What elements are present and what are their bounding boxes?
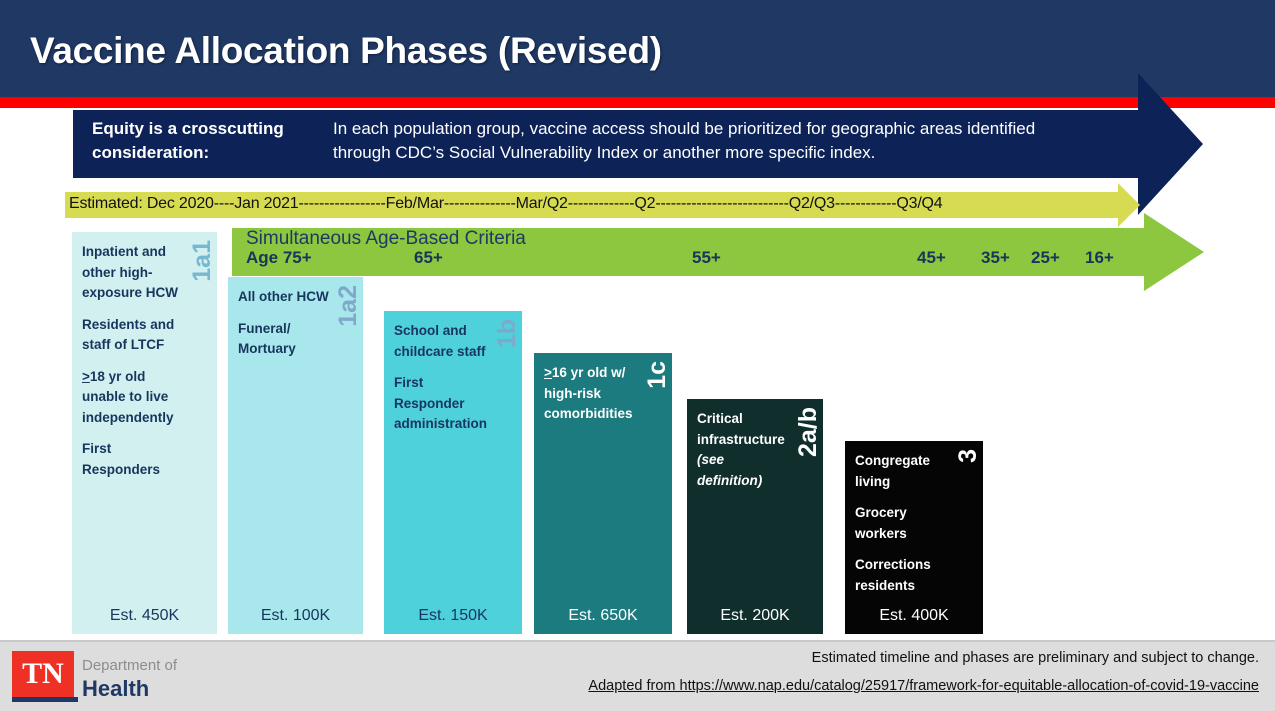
phase-code-label: 1a1 [190,240,215,282]
phase-line-gap [238,308,329,319]
phase-line-gap [82,304,183,315]
phase-line: Funeral/ Mortuary [238,319,329,360]
phase-line-gap [855,492,949,503]
timeline-arrow-head-icon [1118,183,1140,227]
footer-disclaimer: Estimated timeline and phases are prelim… [0,650,1259,666]
red-accent-stripe [0,97,1275,108]
phase-column-body: >16 yr old w/ high-risk comorbidities [544,363,638,425]
age-tick-35-: 35+ [981,248,1010,268]
page-title: Vaccine Allocation Phases (Revised) [30,30,662,72]
greater-equal-symbol: > [544,365,552,380]
phase-line: >16 yr old w/ high-risk comorbidities [544,363,638,425]
phase-estimate-label: Est. 650K [534,607,672,625]
phase-estimate-label: Est. 200K [687,607,823,625]
greater-equal-symbol: > [82,369,90,384]
footer-source-link[interactable]: Adapted from https://www.nap.edu/catalog… [0,678,1259,694]
phase-estimate-label: Est. 150K [384,607,522,625]
phase-line: First Responder administration [394,373,488,435]
phase-line-gap [82,428,183,439]
age-tick-25-: 25+ [1031,248,1060,268]
age-tick-55-: 55+ [692,248,721,268]
phase-column-body: Critical infrastructure(see definition) [697,409,789,491]
phase-code-label: 3 [956,449,981,463]
phase-code-label: 1a2 [336,285,361,327]
age-criteria-heading: Simultaneous Age-Based Criteria [246,228,526,250]
phase-line-gap [82,356,183,367]
age-tick-45-: 45+ [917,248,946,268]
timeline-text: Estimated: Dec 2020----Jan 2021---------… [69,195,943,213]
age-tick-16-: 16+ [1085,248,1114,268]
phase-column-1a1[interactable]: Inpatient and other high-exposure HCWRes… [72,232,217,634]
phase-line: Congregate living [855,451,949,492]
phase-line: All other HCW [238,287,329,308]
phase-line: Critical infrastructure [697,409,789,450]
phase-line: (see definition) [697,450,789,491]
phase-estimate-label: Est. 400K [845,607,983,625]
phase-code-label: 1b [495,319,520,348]
phase-line-gap [855,544,949,555]
phase-line: Inpatient and other high-exposure HCW [82,242,183,304]
age-tick-age-75-: Age 75+ [246,248,312,268]
phase-column-body: Congregate livingGrocery workersCorrecti… [855,451,949,596]
phase-line: >18 yr old unable to live independently [82,367,183,429]
phase-estimate-label: Est. 100K [228,607,363,625]
equity-arrow-head-icon [1138,73,1203,215]
phase-line: Corrections residents [855,555,949,596]
phase-column-1b[interactable]: School and childcare staffFirst Responde… [384,311,522,634]
phase-column-1c[interactable]: >16 yr old w/ high-risk comorbidities1cE… [534,353,672,634]
phase-code-label: 2a/b [796,407,821,457]
phase-column-3[interactable]: Congregate livingGrocery workersCorrecti… [845,441,983,634]
age-criteria-arrow-head-icon [1144,213,1204,291]
age-tick-65-: 65+ [414,248,443,268]
phase-column-1a2[interactable]: All other HCWFuneral/ Mortuary1a2Est. 10… [228,277,363,634]
phase-line: School and childcare staff [394,321,488,362]
phase-column-body: School and childcare staffFirst Responde… [394,321,488,435]
phase-estimate-label: Est. 450K [72,607,217,625]
phase-column-body: Inpatient and other high-exposure HCWRes… [82,242,183,480]
phase-column-2ab[interactable]: Critical infrastructure(see definition)2… [687,399,823,634]
phase-line: First Responders [82,439,183,480]
equity-label: Equity is a crosscutting consideration: [92,117,322,165]
phase-line: Residents and staff of LTCF [82,315,183,356]
phase-line-gap [394,362,488,373]
phase-column-body: All other HCWFuneral/ Mortuary [238,287,329,360]
equity-body-text: In each population group, vaccine access… [333,117,1093,165]
phase-code-label: 1c [645,361,670,389]
tn-logo-underline [12,697,78,702]
slide-canvas: Vaccine Allocation Phases (Revised) Equi… [0,0,1275,711]
phase-line: Grocery workers [855,503,949,544]
